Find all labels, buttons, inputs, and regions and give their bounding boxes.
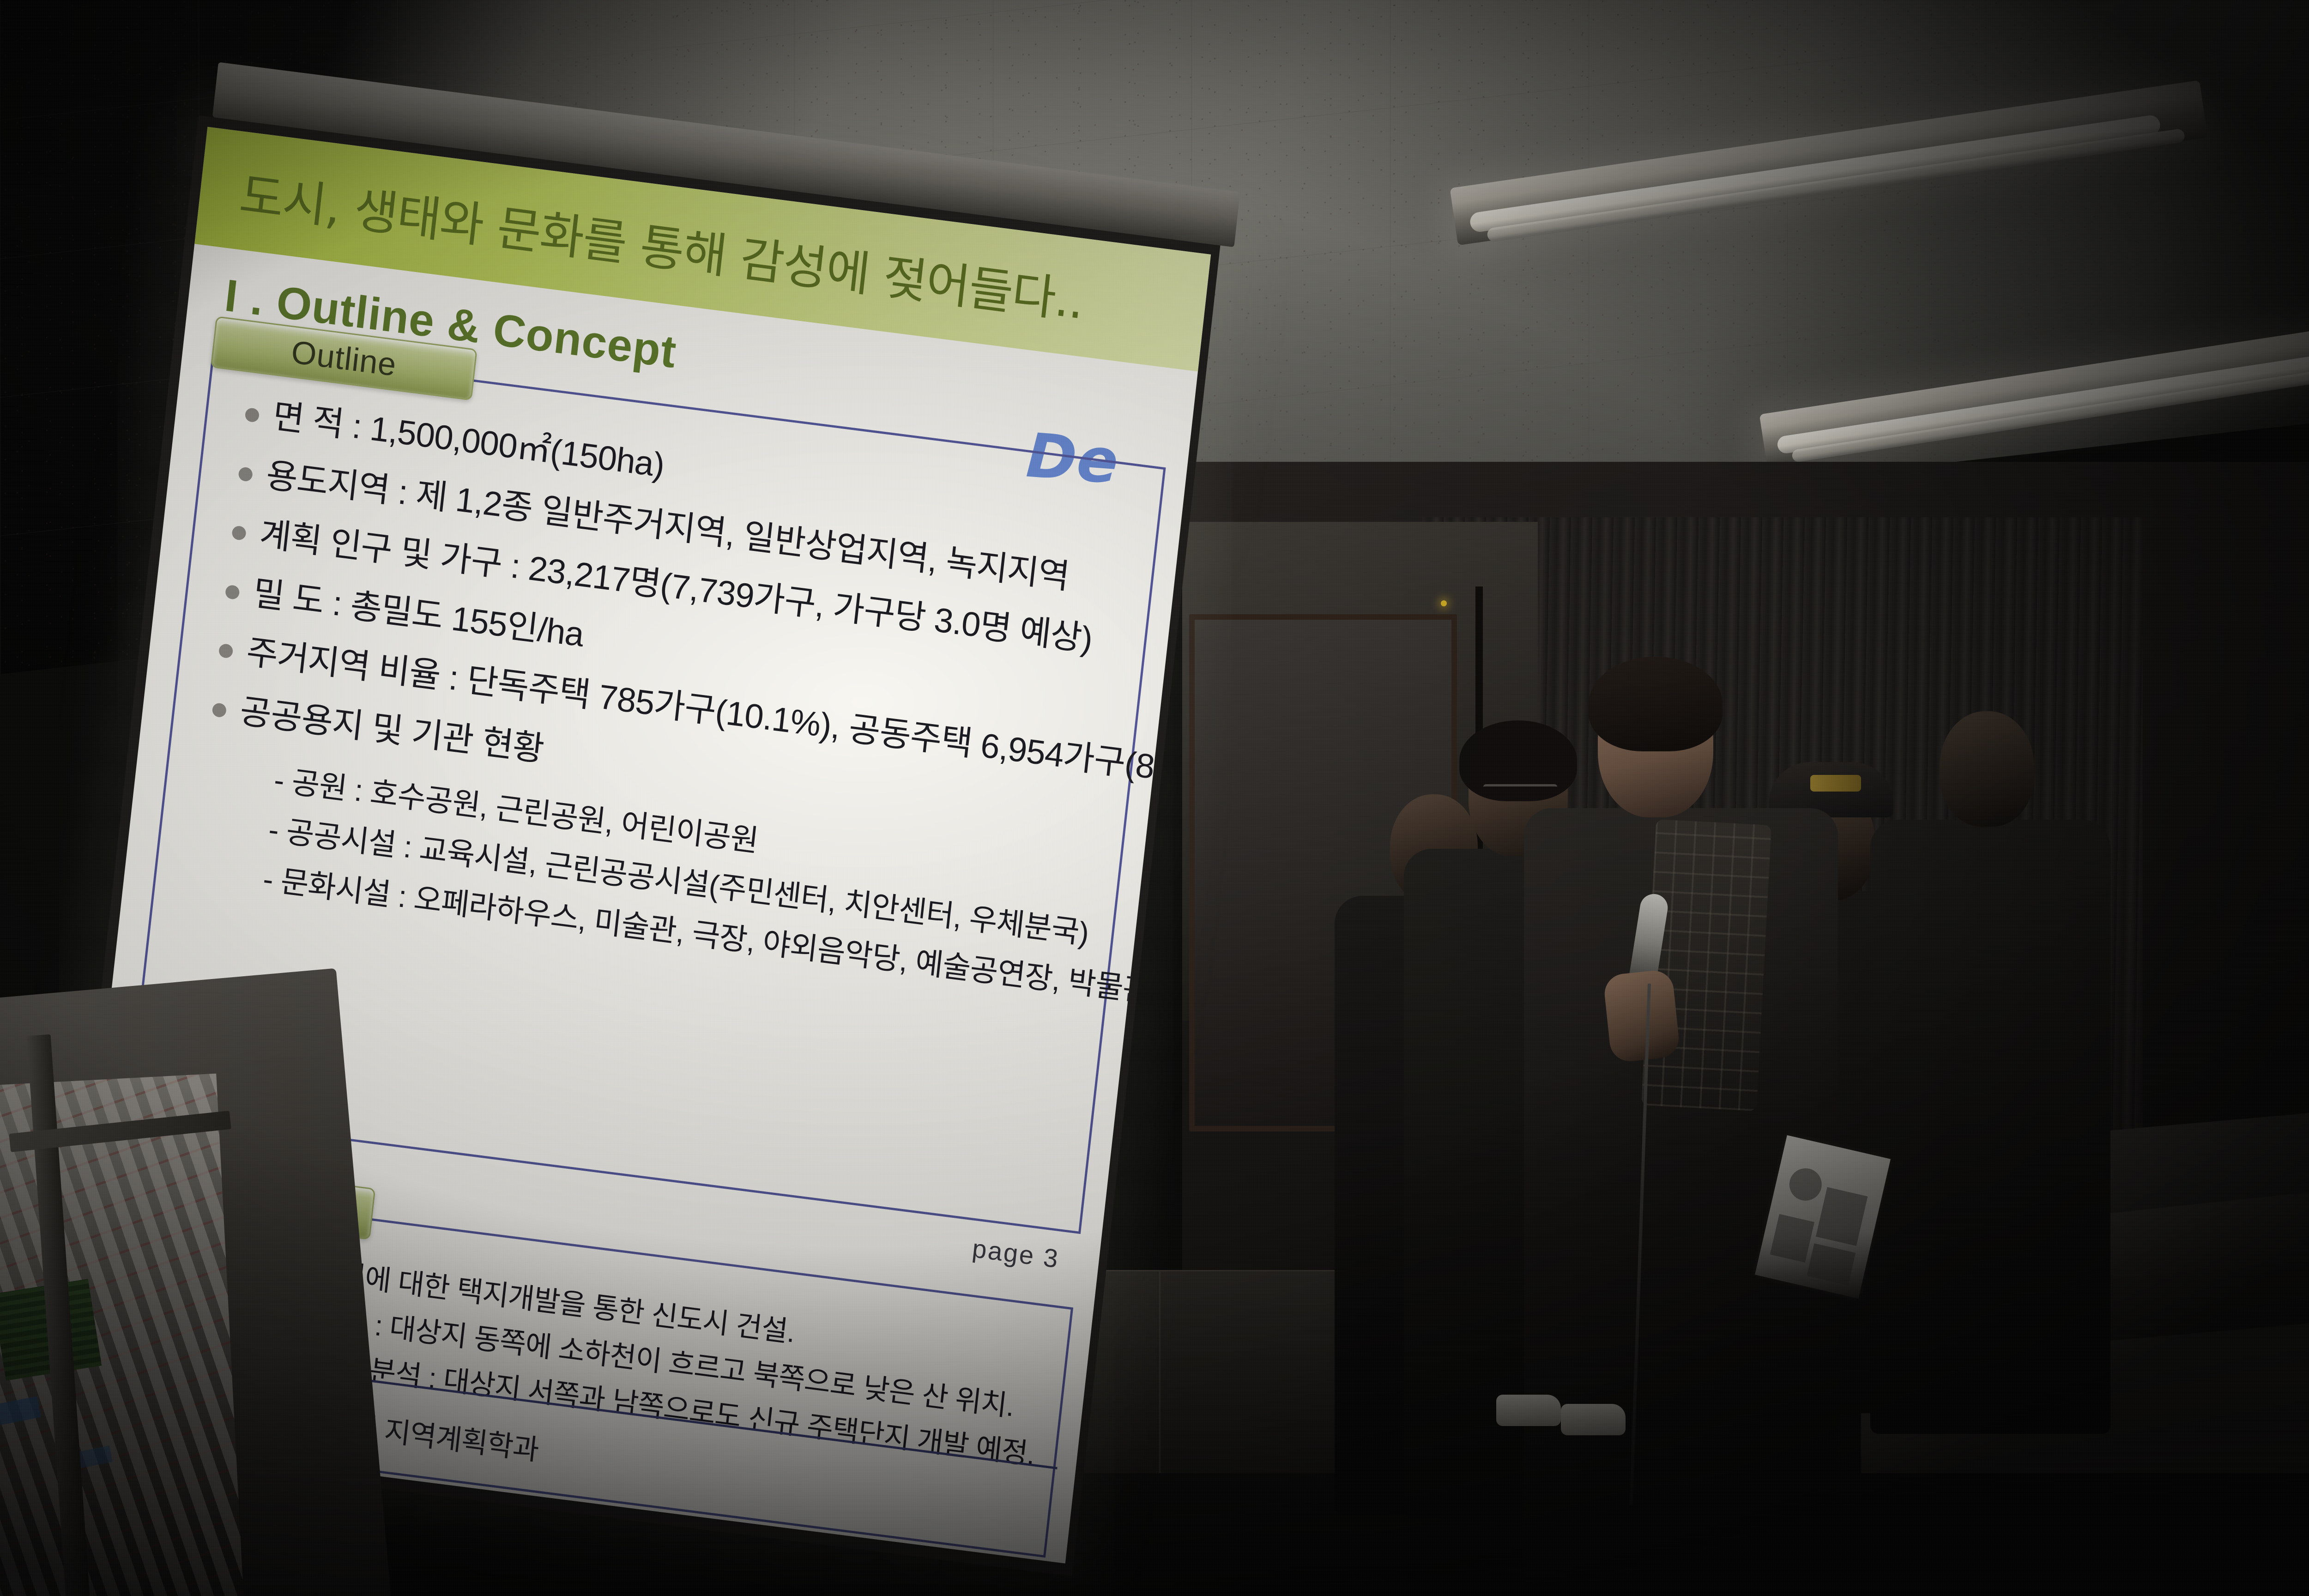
tab-outline-label: Outline bbox=[290, 333, 399, 383]
bullet-dot-icon bbox=[225, 584, 240, 600]
photo-scene: 도시, 생태와 문화를 통해 감성에 젖어들다.. I . Outline & … bbox=[0, 0, 2309, 1596]
bullet-dot-icon bbox=[218, 643, 234, 659]
student-right bbox=[1870, 711, 2110, 1432]
bullet-dot-icon bbox=[212, 702, 227, 718]
head bbox=[1940, 711, 2034, 827]
bullet-dot-icon bbox=[244, 407, 260, 423]
hand bbox=[1602, 969, 1680, 1064]
plaid-shirt bbox=[1641, 819, 1771, 1111]
hair bbox=[1589, 657, 1723, 751]
shoe bbox=[1496, 1395, 1561, 1426]
indicator-led-icon bbox=[1441, 600, 1447, 606]
bullet-dot-icon bbox=[231, 526, 247, 541]
presenter bbox=[1515, 670, 1847, 1584]
torso bbox=[1870, 820, 2110, 1434]
shoe bbox=[1561, 1404, 1626, 1435]
bullet-dot-icon bbox=[238, 466, 253, 482]
page-number: page 3 bbox=[971, 1233, 1061, 1274]
